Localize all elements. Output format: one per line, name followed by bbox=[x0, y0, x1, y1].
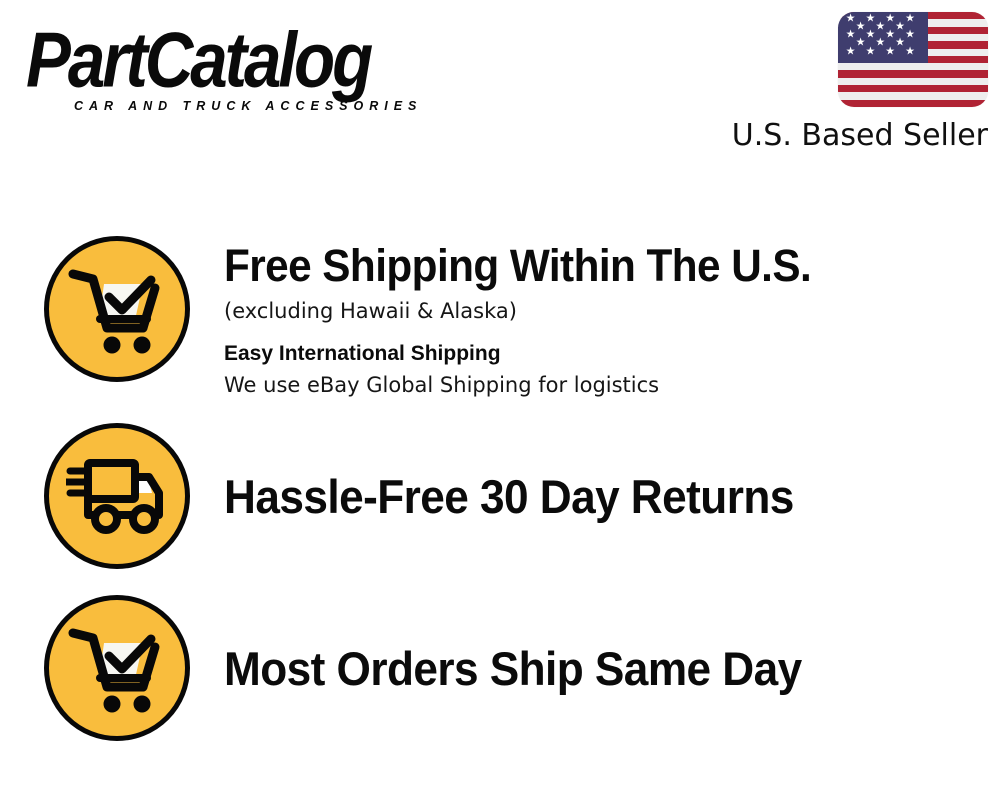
flag-canton: ★ ★ ★ ★ ★ ★ ★ ★ ★ ★ ★ ★ ★ ★ ★ ★ ★ bbox=[838, 12, 928, 63]
brand-logo: PartCatalog CAR AND TRUCK ACCESSORIES bbox=[26, 24, 496, 113]
feature-row: Free Shipping Within The U.S. (excluding… bbox=[0, 236, 1000, 399]
shipping-info-banner: PartCatalog CAR AND TRUCK ACCESSORIES ★ … bbox=[0, 0, 1000, 800]
shopping-cart-check-icon bbox=[44, 236, 190, 382]
feature-row: Most Orders Ship Same Day bbox=[0, 593, 1000, 743]
brand-wordmark: PartCatalog bbox=[26, 24, 505, 96]
feature-title: Free Shipping Within The U.S. bbox=[224, 242, 953, 289]
us-based-seller-badge: ★ ★ ★ ★ ★ ★ ★ ★ ★ ★ ★ ★ ★ ★ ★ ★ ★ bbox=[708, 12, 988, 153]
delivery-truck-icon bbox=[44, 423, 190, 569]
feature-secondary-title: Easy International Shipping bbox=[224, 340, 1000, 367]
feature-text-block: Hassle-Free 30 Day Returns bbox=[190, 472, 1000, 521]
feature-text-block: Most Orders Ship Same Day bbox=[190, 644, 1000, 693]
feature-row: Hassle-Free 30 Day Returns bbox=[0, 421, 1000, 571]
feature-list: Free Shipping Within The U.S. (excluding… bbox=[0, 236, 1000, 743]
feature-secondary-subtitle: We use eBay Global Shipping for logistic… bbox=[224, 371, 1000, 399]
feature-subtitle: (excluding Hawaii & Alaska) bbox=[224, 297, 1000, 325]
feature-title: Most Orders Ship Same Day bbox=[224, 644, 953, 693]
seller-label: U.S. Based Seller bbox=[708, 118, 988, 153]
us-flag-icon: ★ ★ ★ ★ ★ ★ ★ ★ ★ ★ ★ ★ ★ ★ ★ ★ ★ bbox=[838, 12, 988, 107]
feature-title: Hassle-Free 30 Day Returns bbox=[224, 472, 953, 521]
banner-header: PartCatalog CAR AND TRUCK ACCESSORIES ★ … bbox=[0, 0, 1000, 170]
feature-text-block: Free Shipping Within The U.S. (excluding… bbox=[190, 236, 1000, 399]
shopping-cart-check-icon bbox=[44, 595, 190, 741]
